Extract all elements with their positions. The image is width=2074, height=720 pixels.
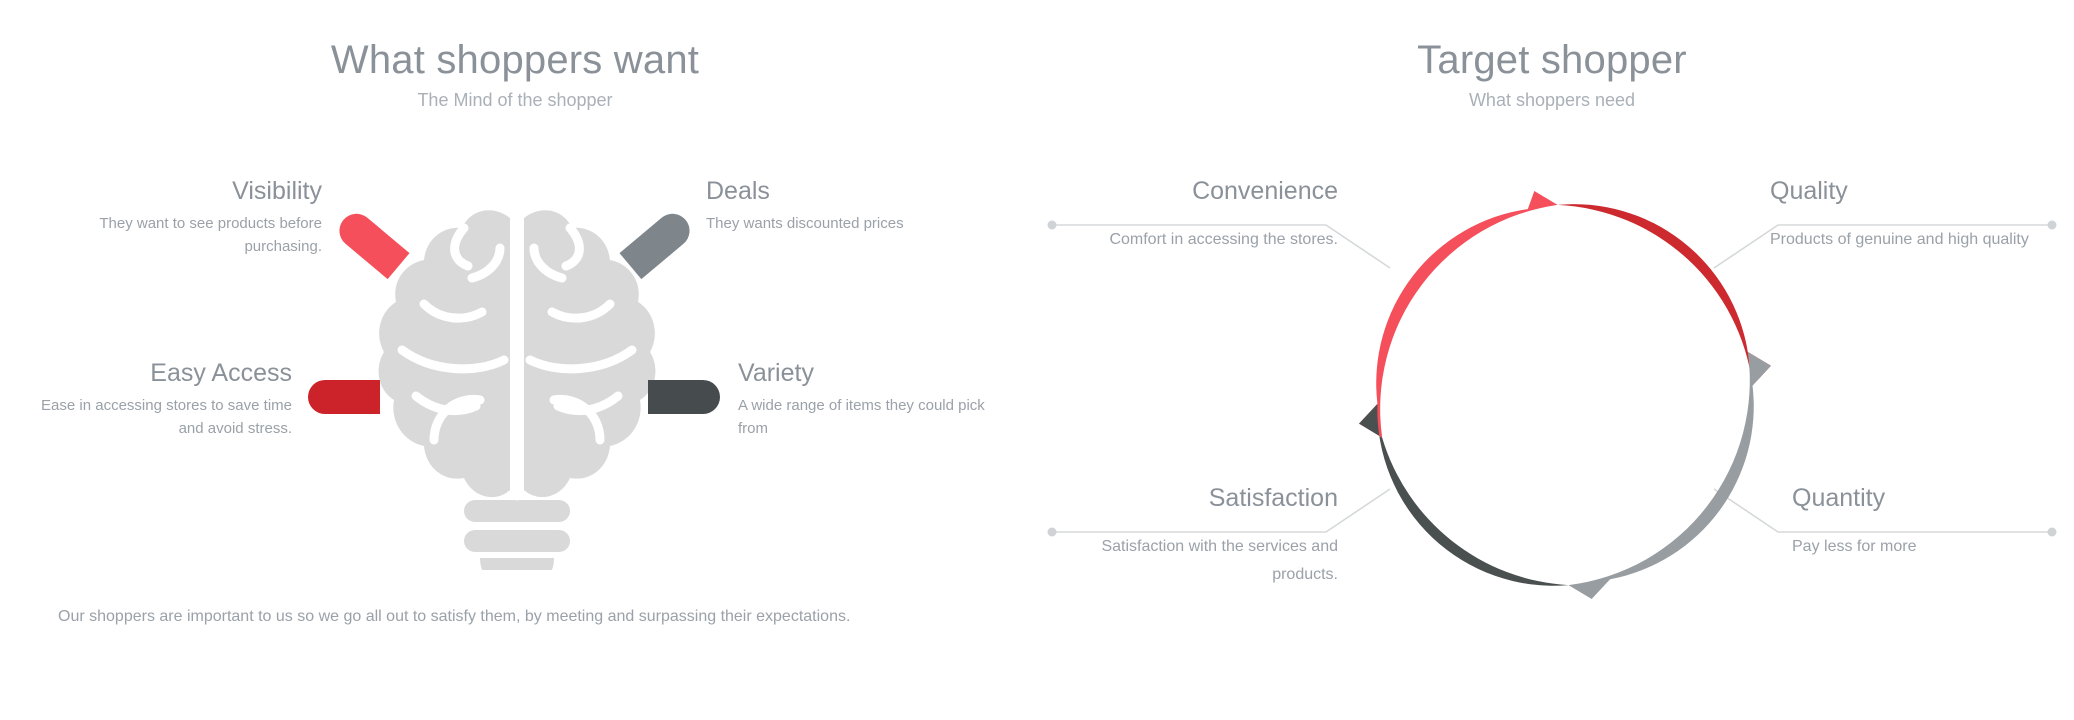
callout-quantity: Quantity Pay less for more [1792,485,2072,561]
feature-easy-access: Easy Access Ease in accessing stores to … [30,360,292,440]
right-panel-title: Target shopper [1030,38,2074,83]
callout-quality-title: Quality [1770,178,2070,206]
left-panel: What shoppers want The Mind of the shopp… [0,0,1030,720]
feature-variety: Variety A wide range of items they could… [738,360,1018,440]
callout-quality-description: Products of genuine and high quality [1770,226,2070,254]
donut-segment-convenience [1343,188,1586,440]
connector-pill-variety [648,380,720,414]
feature-variety-title: Variety [738,360,1018,388]
feature-visibility-description: They want to see products before purchas… [40,212,322,259]
feature-deals-title: Deals [706,178,1006,206]
donut-segment-quantity [1540,349,1783,602]
callout-quantity-description: Pay less for more [1792,533,2072,561]
callout-satisfaction: Satisfaction Satisfaction with the servi… [1038,485,1338,589]
left-panel-caption: Our shoppers are important to us so we g… [58,605,988,629]
callout-convenience: Convenience Comfort in accessing the sto… [1048,178,1338,254]
connector-pill-easy-access [308,380,380,414]
right-panel: Target shopper What shoppers need Conven… [1030,0,2074,720]
feature-visibility: Visibility They want to see products bef… [40,178,322,258]
feature-deals-description: They wants discounted prices [706,212,1006,235]
brain-lightbulb-icon [372,200,662,570]
right-panel-subtitle: What shoppers need [1030,90,2074,111]
callout-quality: Quality Products of genuine and high qua… [1770,178,2070,254]
feature-easy-access-description: Ease in accessing stores to save time an… [30,394,292,441]
left-panel-subtitle: The Mind of the shopper [0,90,1030,111]
donut-segment-satisfaction [1357,378,1592,615]
donut-segment-quality [1534,175,1773,412]
callout-convenience-description: Comfort in accessing the stores. [1048,226,1338,254]
donut-chart [1343,175,1783,615]
feature-deals: Deals They wants discounted prices [706,178,1006,235]
callout-convenience-title: Convenience [1048,178,1338,206]
left-panel-title: What shoppers want [0,38,1030,83]
feature-easy-access-title: Easy Access [30,360,292,388]
feature-visibility-title: Visibility [40,178,322,206]
feature-variety-description: A wide range of items they could pick fr… [738,394,1018,441]
callout-satisfaction-title: Satisfaction [1038,485,1338,513]
callout-satisfaction-description: Satisfaction with the services and produ… [1038,533,1338,589]
callout-quantity-title: Quantity [1792,485,2072,513]
